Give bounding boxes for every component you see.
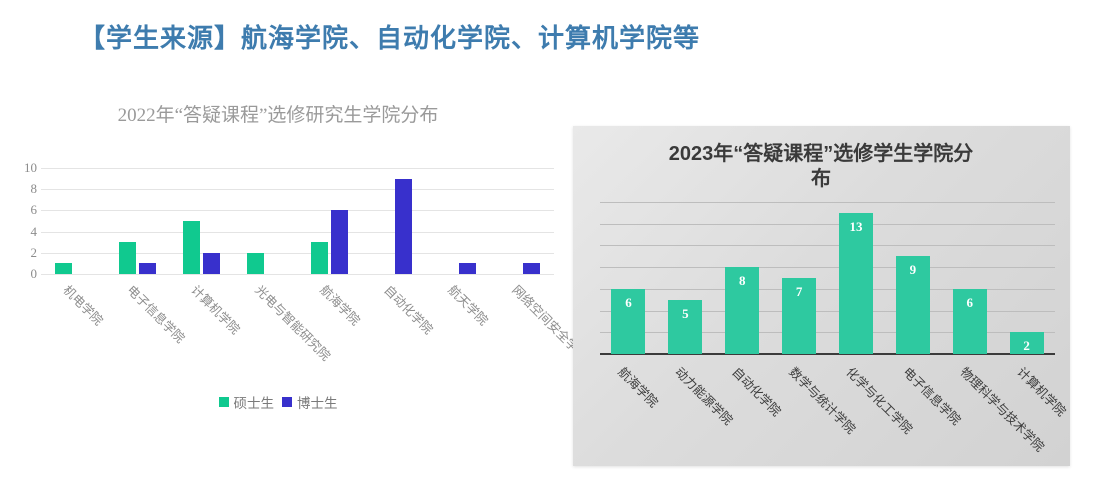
chart-2023-student-distribution-panel: 2023年“答疑课程”选修学生学院分 布 658713962 航海学院动力能源学… (573, 126, 1070, 466)
bar (395, 179, 412, 274)
bar: 6 (611, 289, 645, 354)
bar (139, 263, 156, 274)
bar: 7 (782, 278, 816, 354)
bar-value-label: 13 (839, 219, 873, 235)
bar-group: 7 (771, 202, 828, 354)
legend-swatch-icon (219, 397, 229, 407)
x-axis-label: 机电学院 (60, 280, 109, 329)
bar-group: 5 (657, 202, 714, 354)
bar (119, 242, 136, 274)
bar (311, 242, 328, 274)
legend-label: 硕士生 (234, 392, 275, 412)
y-axis-tick: 2 (31, 245, 38, 261)
bar-group (169, 168, 233, 274)
legend-item: 博士生 (282, 392, 338, 412)
bar: 13 (839, 213, 873, 354)
legend-label: 博士生 (297, 392, 338, 412)
bar-group (233, 168, 297, 274)
right-chart-title: 2023年“答疑课程”选修学生学院分 布 (615, 142, 1027, 192)
x-axis-tick: 动力能源学院 (657, 358, 714, 463)
left-chart-legend: 硕士生博士生 (8, 392, 548, 412)
legend-swatch-icon (282, 397, 292, 407)
bar-value-label: 6 (611, 295, 645, 311)
bar-group (105, 168, 169, 274)
bar-value-label: 7 (782, 284, 816, 300)
left-chart-bars (41, 168, 554, 274)
x-axis-tick: 计算机学院 (169, 276, 233, 376)
right-chart-x-axis: 航海学院动力能源学院自动化学院数学与统计学院化学与化工学院电子信息学院物理科学与… (600, 358, 1055, 463)
left-chart-y-axis: 0246810 (8, 162, 41, 280)
bar-value-label: 2 (1010, 338, 1044, 354)
bar (55, 263, 72, 274)
x-axis-tick: 网络空间安全学院 (490, 276, 554, 376)
bar-group: 6 (941, 202, 998, 354)
x-axis-tick: 自动化学院 (362, 276, 426, 376)
bar (183, 221, 200, 274)
x-axis-tick: 电子信息学院 (884, 358, 941, 463)
bar-group (490, 168, 554, 274)
left-chart-title: 2022年“答疑课程”选修研究生学院分布 (8, 100, 548, 127)
bar-group (426, 168, 490, 274)
x-axis-tick: 航海学院 (298, 276, 362, 376)
bar: 9 (896, 256, 930, 354)
bar (459, 263, 476, 274)
x-axis-tick: 电子信息学院 (105, 276, 169, 376)
bar-group: 2 (998, 202, 1055, 354)
y-axis-tick: 10 (24, 160, 37, 176)
x-axis-tick: 数学与统计学院 (771, 358, 828, 463)
left-chart-x-axis: 机电学院电子信息学院计算机学院光电与智能研究院航海学院自动化学院航天学院网络空间… (41, 276, 554, 376)
bar-group: 9 (884, 202, 941, 354)
x-axis-tick: 计算机学院 (998, 358, 1055, 463)
right-chart-title-line2: 布 (615, 167, 1027, 192)
bar-group (362, 168, 426, 274)
bar (523, 263, 540, 274)
x-axis-label: 航天学院 (444, 280, 493, 329)
bar: 2 (1010, 332, 1044, 354)
x-axis-tick: 航海学院 (600, 358, 657, 463)
x-axis-label: 航海学院 (316, 280, 365, 329)
y-axis-tick: 8 (31, 181, 38, 197)
bar-value-label: 9 (896, 262, 930, 278)
bar (331, 210, 348, 274)
x-axis-tick: 化学与化工学院 (828, 358, 885, 463)
right-chart-title-line1: 2023年“答疑课程”选修学生学院分 (615, 142, 1027, 167)
x-axis-tick: 机电学院 (41, 276, 105, 376)
y-axis-tick: 6 (31, 202, 38, 218)
bar-group (298, 168, 362, 274)
bar: 8 (725, 267, 759, 354)
gridline (41, 274, 554, 275)
bar: 6 (953, 289, 987, 354)
bar: 5 (668, 300, 702, 354)
y-axis-tick: 4 (31, 224, 38, 240)
chart-2022-graduate-distribution: 2022年“答疑课程”选修研究生学院分布 0246810 机电学院电子信息学院计… (8, 100, 560, 430)
bar-group: 8 (714, 202, 771, 354)
bar-value-label: 8 (725, 273, 759, 289)
bar (247, 253, 264, 274)
x-axis-tick: 自动化学院 (714, 358, 771, 463)
bar-value-label: 5 (668, 306, 702, 322)
legend-item: 硕士生 (219, 392, 275, 412)
bar-group: 13 (828, 202, 885, 354)
x-axis-label: 计算机学院 (1013, 362, 1071, 420)
x-axis-tick: 光电与智能研究院 (233, 276, 297, 376)
right-chart-bars: 658713962 (600, 202, 1055, 354)
bar-group: 6 (600, 202, 657, 354)
bar-value-label: 6 (953, 295, 987, 311)
page-title: 【学生来源】航海学院、自动化学院、计算机学院等 (79, 18, 700, 55)
x-axis-tick: 航天学院 (426, 276, 490, 376)
bar (203, 253, 220, 274)
x-axis-tick: 物理科学与技术学院 (941, 358, 998, 463)
y-axis-tick: 0 (31, 266, 38, 282)
bar-group (41, 168, 105, 274)
